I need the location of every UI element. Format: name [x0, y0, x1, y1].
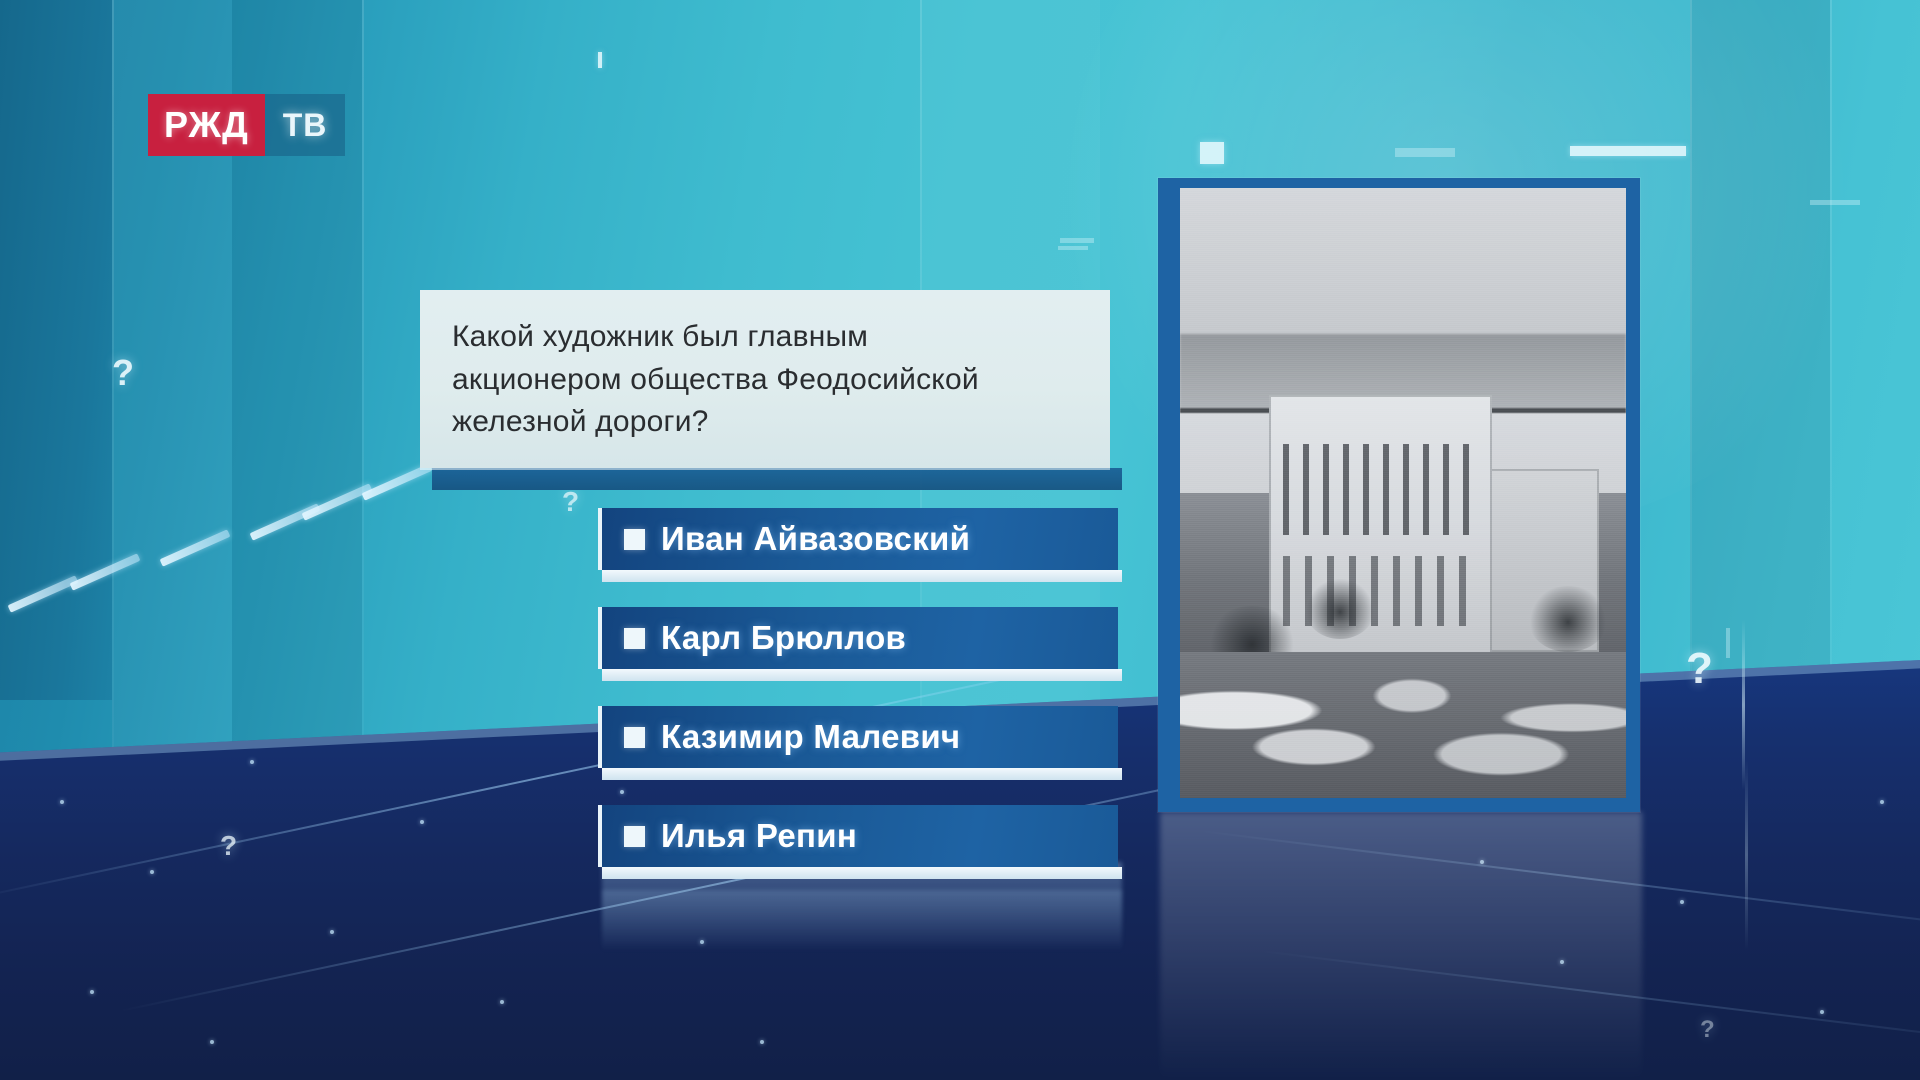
answer-option-underline	[602, 768, 1122, 780]
answer-option-underline	[602, 669, 1122, 681]
historic-photo-panel	[1158, 178, 1640, 812]
wall-left-dark-column	[0, 0, 112, 700]
bullet-square-icon	[624, 628, 645, 649]
answer-option-label: Илья Репин	[661, 817, 857, 855]
answer-option-underline	[602, 867, 1122, 879]
decor-question-mark-icon: ?	[220, 830, 237, 862]
answer-option-a[interactable]: Иван Айвазовский	[598, 508, 1122, 582]
bullet-square-icon	[624, 826, 645, 847]
wall-vertical-streak-2	[1745, 760, 1748, 950]
floor-star	[90, 990, 94, 994]
answer-option-underline	[602, 570, 1122, 582]
channel-logo-secondary: ТВ	[265, 94, 346, 156]
question-panel: Какой художник был главным акционером об…	[420, 290, 1110, 468]
decor-question-mark-icon: ?	[112, 352, 134, 394]
floor-star	[60, 800, 64, 804]
photo-film-grain	[1180, 188, 1626, 798]
answer-option-label: Карл Брюллов	[661, 619, 906, 657]
channel-logo-primary: РЖД	[148, 94, 265, 156]
bullet-square-icon	[624, 727, 645, 748]
floor-star	[500, 1000, 504, 1004]
wall-seam-5	[1830, 0, 1832, 780]
answer-option-bar[interactable]: Казимир Малевич	[598, 706, 1118, 768]
question-card: Какой художник был главным акционером об…	[420, 290, 1110, 468]
wall-tick-dash-e	[1810, 200, 1860, 205]
answer-options-list: Иван Айвазовский Карл Брюллов Казимир Ма…	[598, 508, 1122, 904]
photo-frame	[1158, 178, 1640, 812]
wall-tick-top	[598, 52, 602, 68]
answer-option-b[interactable]: Карл Брюллов	[598, 607, 1122, 681]
question-text-line-3: железной дороги?	[452, 401, 1080, 444]
broadcast-stage: РЖД ТВ Какой художник был гл	[0, 0, 1920, 1080]
floor-star	[1680, 900, 1684, 904]
answer-option-d[interactable]: Илья Репин	[598, 805, 1122, 879]
answer-option-c[interactable]: Казимир Малевич	[598, 706, 1122, 780]
decor-question-mark-icon: ?	[1700, 1016, 1715, 1044]
answer-option-label: Иван Айвазовский	[661, 520, 970, 558]
floor-star	[150, 870, 154, 874]
decor-question-mark-icon: ?	[562, 486, 579, 518]
photo-floor-reflection	[1160, 812, 1642, 1080]
wall-tick-square	[1200, 142, 1224, 164]
question-text-line-2: акционером общества Феодосийской	[452, 359, 1080, 402]
floor-star	[760, 1040, 764, 1044]
wall-tick-dash-d	[1058, 246, 1088, 250]
floor-star	[420, 820, 424, 824]
wall-tick-dash-b	[1570, 146, 1686, 156]
answer-option-bar[interactable]: Илья Репин	[598, 805, 1118, 867]
decor-question-mark-icon: ?	[1686, 644, 1713, 694]
channel-logo: РЖД ТВ	[148, 94, 345, 156]
answer-option-bar[interactable]: Иван Айвазовский	[598, 508, 1118, 570]
question-panel-shadow	[432, 468, 1122, 490]
floor-star	[1820, 1010, 1824, 1014]
floor-star	[250, 760, 254, 764]
question-text-line-1: Какой художник был главным	[452, 316, 1080, 359]
historic-photograph	[1180, 188, 1626, 798]
floor-star	[330, 930, 334, 934]
wall-tick-dash-c	[1060, 238, 1094, 243]
wall-tick-dash-a	[1395, 148, 1455, 157]
bullet-square-icon	[624, 529, 645, 550]
answer-option-bar[interactable]: Карл Брюллов	[598, 607, 1118, 669]
floor-star	[210, 1040, 214, 1044]
wall-seam-2	[362, 0, 364, 780]
wall-tick-narrow	[1726, 628, 1730, 658]
floor-star	[1880, 800, 1884, 804]
answer-option-label: Казимир Малевич	[661, 718, 960, 756]
